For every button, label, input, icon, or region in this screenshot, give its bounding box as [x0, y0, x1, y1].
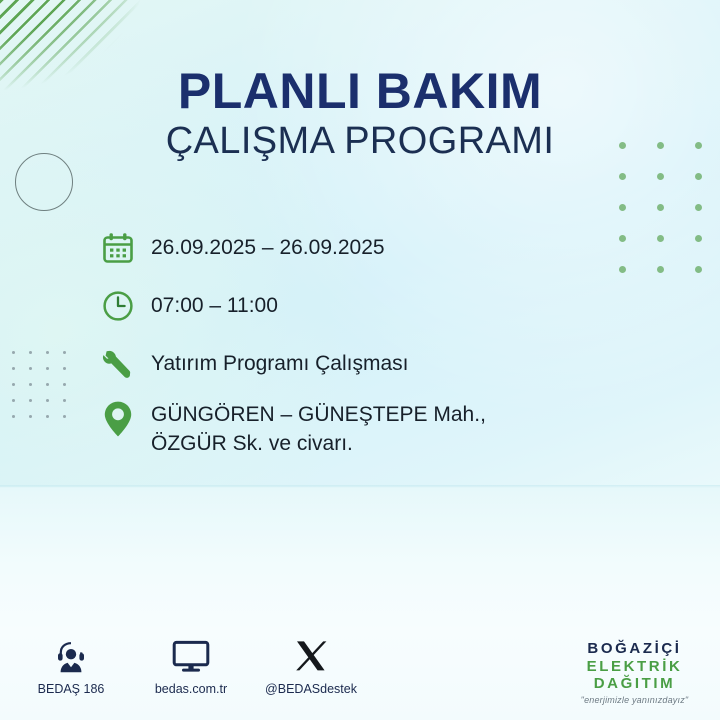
contact-label-website: bedas.com.tr: [155, 682, 227, 696]
calendar-icon: [98, 228, 138, 268]
brand-line-elektrik: ELEKTRİK: [567, 658, 702, 676]
detail-value-work-type: Yatırım Programı Çalışması: [151, 344, 409, 378]
planned-maintenance-poster: PLANLI BAKIM ÇALIŞMA PROGRAMI 26.09: [0, 0, 720, 720]
contact-call-center[interactable]: BEDAŞ 186: [28, 636, 114, 696]
detail-row-date: 26.09.2025 – 26.09.2025: [98, 228, 668, 268]
detail-value-location: GÜNGÖREN – GÜNEŞTEPE Mah., ÖZGÜR Sk. ve …: [151, 398, 486, 458]
brand-tagline: "enerjimizle yanınızdayız": [567, 695, 702, 705]
maintenance-details-list: 26.09.2025 – 26.09.2025 07:00 – 11:00: [98, 228, 668, 474]
brand-line-bogazici: BOĞAZİÇİ: [567, 640, 702, 658]
detail-row-work-type: Yatırım Programı Çalışması: [98, 344, 668, 384]
contact-website[interactable]: bedas.com.tr: [148, 636, 234, 696]
detail-row-location: GÜNGÖREN – GÜNEŞTEPE Mah., ÖZGÜR Sk. ve …: [98, 398, 668, 458]
contact-label-social-x: @BEDASdestek: [265, 682, 357, 696]
detail-value-date: 26.09.2025 – 26.09.2025: [151, 228, 385, 262]
contact-label-call-center: BEDAŞ 186: [38, 682, 105, 696]
monitor-icon: [170, 636, 212, 676]
page-subtitle: ÇALIŞMA PROGRAMI: [0, 122, 720, 162]
background-divider: [0, 485, 720, 488]
detail-value-time: 07:00 – 11:00: [151, 286, 278, 320]
brand-line-dagitim: DAĞITIM: [567, 675, 702, 693]
map-pin-icon: [98, 398, 138, 440]
contact-channels: BEDAŞ 186 bedas.com.tr: [28, 636, 388, 696]
dot-grid-left-decoration: [12, 351, 80, 431]
brand-logo: BOĞAZİÇİ ELEKTRİK DAĞITIM "enerjimizle y…: [567, 640, 702, 705]
page-title: PLANLI BAKIM: [0, 66, 720, 116]
clock-icon: [98, 286, 138, 326]
headset-operator-icon: [52, 636, 90, 676]
contact-social-x[interactable]: @BEDASdestek: [268, 636, 354, 696]
poster-heading: PLANLI BAKIM ÇALIŞMA PROGRAMI: [0, 66, 720, 162]
poster-footer: BEDAŞ 186 bedas.com.tr: [0, 636, 720, 720]
tools-icon: [98, 344, 138, 384]
detail-row-time: 07:00 – 11:00: [98, 286, 668, 326]
x-logo-icon: [294, 636, 328, 676]
